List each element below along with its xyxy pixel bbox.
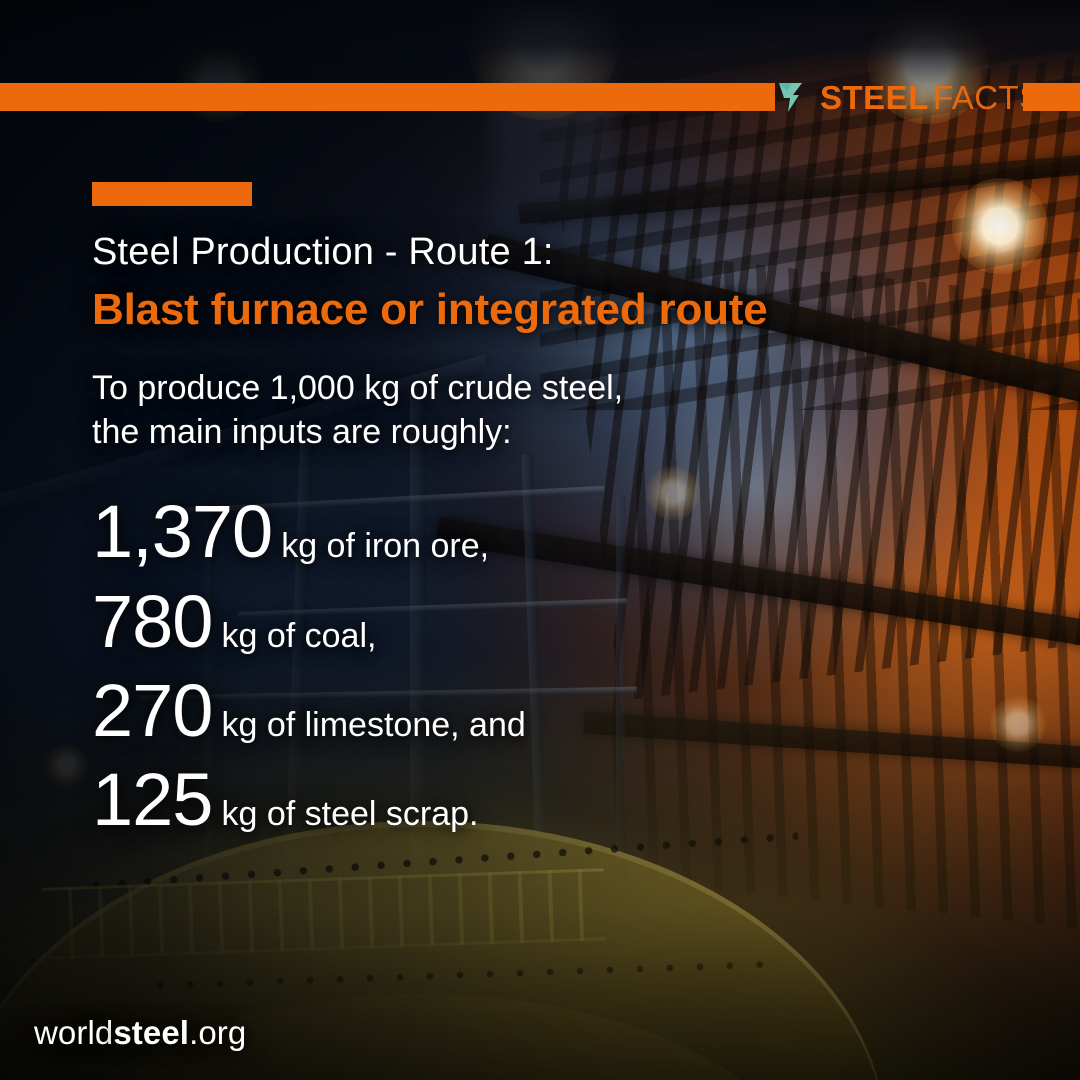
intro-paragraph: To produce 1,000 kg of crude steel, the … xyxy=(92,367,952,454)
stats-list: 1,370 kg of iron ore, 780 kg of coal, 27… xyxy=(92,488,952,843)
footer-logo-world: world xyxy=(34,1014,113,1051)
brand-wordmark: STEELFACTS xyxy=(820,81,1042,114)
worldsteel-arrow-icon xyxy=(778,80,814,114)
stat-value: 780 xyxy=(92,578,212,665)
stat-label: kg of coal, xyxy=(221,619,376,653)
kicker-text: Steel Production - Route 1: xyxy=(92,232,952,274)
intro-line-2: the main inputs are roughly: xyxy=(92,411,952,455)
list-item: 1,370 kg of iron ore, xyxy=(92,488,952,575)
stat-label: kg of limestone, and xyxy=(221,708,525,742)
header-stripe-left-segment xyxy=(0,83,775,111)
stat-value: 125 xyxy=(92,756,212,843)
stat-label: kg of steel scrap. xyxy=(221,797,478,831)
title-accent-bar xyxy=(92,182,252,206)
footer-logo-org: .org xyxy=(189,1014,246,1051)
stat-label: kg of iron ore, xyxy=(281,529,489,563)
brand-word-facts: FACTS xyxy=(933,79,1042,116)
list-item: 780 kg of coal, xyxy=(92,578,952,665)
stat-value: 270 xyxy=(92,667,212,754)
list-item: 125 kg of steel scrap. xyxy=(92,756,952,843)
footer-worldsteel-logo[interactable]: worldsteel.org xyxy=(34,1014,246,1052)
page-title: Blast furnace or integrated route xyxy=(92,286,952,334)
list-item: 270 kg of limestone, and xyxy=(92,667,952,754)
footer-logo-steel: steel xyxy=(113,1014,189,1051)
brand-lockup: STEELFACTS xyxy=(778,74,1042,120)
content-column: Steel Production - Route 1: Blast furnac… xyxy=(92,182,952,846)
brand-word-steel: STEEL xyxy=(820,79,929,116)
intro-line-1: To produce 1,000 kg of crude steel, xyxy=(92,367,952,411)
infographic-canvas: STEELFACTS Steel Production - Route 1: B… xyxy=(0,0,1080,1080)
stat-value: 1,370 xyxy=(92,488,272,575)
